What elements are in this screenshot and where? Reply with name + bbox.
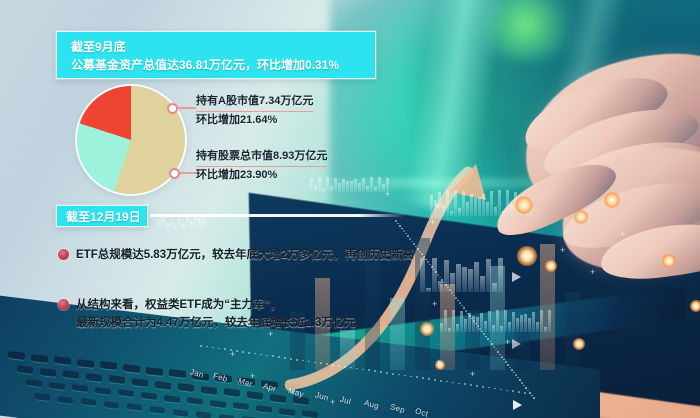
dotted-guide-point (493, 346, 495, 348)
dotted-guide-point-h (200, 345, 202, 347)
holographic-mini-bar (488, 311, 491, 332)
dotted-guide-point (483, 333, 485, 335)
callout-leader-a-shares (178, 107, 196, 109)
holographic-mini-bar (338, 183, 341, 192)
bullet-dot-icon (58, 249, 69, 260)
holographic-mini-bar (202, 218, 205, 231)
pie-chart-segments (77, 86, 185, 194)
dotted-guide-point-h (266, 355, 268, 357)
dotted-guide-point (469, 315, 471, 317)
dotted-guide-point-h (452, 382, 454, 384)
dotted-guide-point-h (326, 363, 328, 365)
holographic-mini-bar (346, 181, 349, 192)
light-spark (574, 210, 588, 224)
holographic-mini-bar (450, 273, 455, 292)
dotted-guide-point-h (476, 385, 478, 387)
holographic-mini-bar (464, 319, 467, 332)
dotted-guide-point (423, 256, 425, 258)
dotted-guide-point-h (440, 380, 442, 382)
holographic-histogram-top (430, 190, 560, 216)
holographic-mini-bar (506, 190, 509, 216)
holographic-mini-bar (442, 205, 445, 216)
holographic-mini-bar (460, 311, 463, 332)
dotted-guide-point (465, 310, 467, 312)
section-banner: 截至12月19日 (56, 205, 148, 227)
bullet-dot-icon-2 (58, 299, 69, 310)
dotted-guide-point (409, 238, 411, 240)
dotted-guide-point-h (230, 349, 232, 351)
dotted-guide-point (445, 284, 447, 286)
callout-total-stocks-title: 持有股票总市值8.93万亿元 (196, 148, 327, 167)
plus-marker-icon: + (620, 230, 625, 239)
holographic-mini-bar (484, 321, 487, 332)
holographic-mini-bar (482, 194, 485, 216)
cursor-arrow-icon (513, 400, 522, 410)
keyboard-key (31, 354, 48, 363)
keyboard-key (146, 367, 163, 376)
dotted-guide-point (495, 349, 497, 351)
dotted-guide-point-h (386, 372, 388, 374)
dotted-guide-point-h (470, 384, 472, 386)
infographic-canvas: Jan Feb Mar Apr May Jun Jul Aug Sep Oct … (0, 0, 700, 418)
holographic-mini-bar (444, 310, 447, 332)
holographic-mini-bar (458, 208, 461, 216)
light-spark (690, 300, 700, 312)
dotted-guide-point (463, 307, 465, 309)
holographic-mini-bar (492, 325, 495, 332)
light-spark (515, 196, 533, 214)
holographic-mini-bar (528, 318, 531, 332)
dotted-guide-point-h (464, 383, 466, 385)
keyboard-key (155, 381, 171, 390)
holographic-mini-bar (370, 177, 373, 192)
plus-marker-icon: + (432, 300, 437, 309)
dotted-guide-point-h (512, 390, 514, 392)
plus-marker-icon: + (330, 398, 335, 407)
dotted-guide-point-h (284, 357, 286, 359)
dotted-guide-point (441, 279, 443, 281)
holographic-mini-bar (330, 186, 333, 192)
holographic-mini-bar (498, 258, 503, 292)
dotted-guide-point (417, 248, 419, 250)
holographic-mini-bar (454, 190, 457, 216)
dotted-guide-point-h (320, 362, 322, 364)
holographic-mini-bar (446, 190, 449, 216)
header-banner: 截至9月底 公募基金资产总值达36.81万亿元，环比增加0.31% (56, 31, 376, 79)
dotted-guide-point-h (422, 377, 424, 379)
holographic-mini-bar (502, 211, 505, 216)
holographic-mini-bar (440, 323, 443, 332)
dotted-guide-point-h (344, 366, 346, 368)
holographic-mini-bar (310, 178, 313, 192)
plus-marker-icon: + (435, 202, 440, 211)
plus-marker-icon: + (230, 350, 235, 359)
holographic-mini-bar (494, 207, 497, 216)
dotted-guide-point (479, 328, 481, 330)
dotted-guide-point (505, 361, 507, 363)
holographic-mini-bar (182, 224, 185, 231)
dotted-guide-point-h (248, 352, 250, 354)
dotted-guide-point (427, 261, 429, 263)
dotted-guide-point-h (242, 351, 244, 353)
holographic-mini-bar (500, 326, 503, 332)
cursor-arrow-icon-3 (512, 339, 521, 349)
holographic-mini-bar (314, 185, 317, 192)
callout-node-total-stocks (169, 168, 180, 179)
holographic-mini-bar (190, 221, 193, 231)
dotted-guide-point-h (500, 389, 502, 391)
holographic-mini-bar (492, 283, 497, 292)
holographic-mini-bar (420, 258, 425, 292)
holographic-mini-bar (318, 177, 321, 192)
dotted-guide-point (477, 325, 479, 327)
holographic-mini-bar (448, 328, 451, 332)
holographic-mini-bar (342, 179, 345, 192)
bullet-etf-total-text: ETF总规模达5.83万亿元，较去年底大增2万多亿元，再创历史新高 (76, 246, 414, 264)
holographic-mini-bar (354, 179, 357, 192)
holographic-mini-bar (430, 195, 433, 216)
dotted-guide-point (509, 367, 511, 369)
dotted-guide-point-h (392, 373, 394, 375)
dotted-guide-point (395, 220, 397, 222)
dotted-guide-point-h (362, 369, 364, 371)
light-spark (604, 192, 620, 208)
holographic-mini-bar (358, 183, 361, 192)
holographic-bar (340, 330, 355, 370)
dotted-guide-point-h (272, 355, 274, 357)
dotted-guide-point (459, 302, 461, 304)
dotted-guide-point (411, 241, 413, 243)
holographic-mini-bar (504, 310, 507, 332)
light-spark (517, 246, 537, 266)
holographic-mini-bar (480, 276, 485, 292)
plus-marker-icon: + (290, 388, 295, 397)
dotted-guide-point-h (374, 370, 376, 372)
dotted-guide-point (425, 259, 427, 261)
holographic-mini-bar (462, 267, 467, 292)
keyboard-key (173, 409, 188, 417)
callout-a-shares-sub: 环比增加21.64% (196, 112, 277, 129)
dotted-guide-point (451, 292, 453, 294)
callout-leader-total-stocks (180, 172, 196, 174)
dotted-guide-point-h (296, 359, 298, 361)
callout-node-a-shares (167, 103, 178, 114)
holographic-mini-bar (158, 220, 161, 232)
holographic-mini-bar (490, 191, 493, 216)
dotted-guide-point (473, 320, 475, 322)
light-spark (662, 254, 676, 268)
holographic-mini-bar (362, 178, 365, 192)
dotted-guide-point (515, 374, 517, 376)
holographic-mini-bar (350, 181, 353, 192)
dotted-guide-point-h (410, 376, 412, 378)
holographic-mini-bar (536, 322, 539, 332)
dotted-guide-point (511, 369, 513, 371)
holographic-mini-bar (548, 310, 551, 332)
dotted-guide-point-h (428, 378, 430, 380)
dotted-guide-point (399, 225, 401, 227)
dotted-guide-point-h (218, 348, 220, 350)
bullet-equity-etf-line1: 从结构来看，权益类ETF成为“主力军”， (76, 296, 356, 314)
dotted-guide-point-h (290, 358, 292, 360)
holographic-mini-bar (334, 178, 337, 192)
dotted-guide-point-h (518, 391, 520, 393)
holographic-mini-bar (496, 310, 499, 332)
dotted-guide-point-h (332, 364, 334, 366)
holographic-mini-bar (166, 223, 169, 231)
dotted-guide-point (507, 364, 509, 366)
holographic-mini-bar (426, 288, 431, 292)
holographic-mini-bar (476, 317, 479, 332)
holographic-mini-bar (510, 205, 513, 216)
holographic-mini-bar (462, 191, 465, 216)
dotted-guide-point (521, 382, 523, 384)
dotted-guide-point (497, 351, 499, 353)
holographic-mini-bar (516, 318, 519, 332)
holographic-mini-bar (486, 259, 491, 292)
dotted-guide-point (439, 277, 441, 279)
keyboard-key (40, 368, 56, 377)
dotted-guide-point-h (338, 365, 340, 367)
holographic-mini-bar (450, 211, 453, 216)
dotted-guide-point (455, 297, 457, 299)
holographic-histogram-low (440, 310, 570, 332)
plus-marker-icon: + (430, 218, 435, 227)
holographic-mini-bar (470, 194, 473, 216)
holographic-mini-bar (474, 262, 479, 292)
dotted-guide-point-h (506, 390, 508, 392)
plus-marker-icon: + (385, 190, 390, 199)
dotted-guide-point (501, 356, 503, 358)
plus-marker-icon: + (470, 370, 475, 379)
holographic-mini-bar (486, 202, 489, 216)
holographic-mini-bar (498, 190, 501, 216)
dotted-guide-point-h (482, 386, 484, 388)
holographic-mini-bar (452, 310, 455, 332)
dotted-guide-point (435, 271, 437, 273)
dotted-guide-point (487, 338, 489, 340)
light-spark (545, 260, 557, 272)
holographic-mini-bar (378, 177, 381, 192)
pie-chart (77, 86, 185, 194)
holographic-mini-bar (456, 324, 459, 332)
dotted-guide-point (467, 313, 469, 315)
dotted-guide-point-h (434, 379, 436, 381)
plus-marker-icon: + (590, 268, 595, 277)
header-banner-line1: 截至9月底 (71, 38, 363, 56)
holographic-mini-bar (194, 215, 197, 231)
holographic-mini-bar (540, 310, 543, 332)
holographic-mini-bar (478, 197, 481, 216)
light-spark (573, 338, 585, 350)
plus-marker-icon: + (560, 246, 565, 255)
holographic-mini-bar (466, 202, 469, 216)
dotted-guide-point (449, 289, 451, 291)
holographic-mini-bar (474, 198, 477, 216)
holographic-mini-bar (508, 322, 511, 332)
holographic-mini-bar (468, 269, 473, 292)
holographic-mini-bar (532, 312, 535, 332)
dotted-guide-point-h (314, 362, 316, 364)
keyboard-key (270, 394, 286, 403)
holographic-mini-bar (326, 177, 329, 192)
holographic-mini-bar (520, 315, 523, 332)
dotted-guide-point-h (416, 376, 418, 378)
bullet-equity-etf-text: 从结构来看，权益类ETF成为“主力军”， 最新规模合计为4.47万亿元，较去年底… (76, 296, 356, 332)
dotted-guide-point-h (524, 392, 526, 394)
plus-marker-icon: + (436, 358, 441, 367)
dotted-guide-point (407, 235, 409, 237)
light-spark (420, 322, 434, 336)
holographic-mini-bar (544, 327, 547, 332)
dotted-guide-point-h (368, 369, 370, 371)
holographic-bar (390, 298, 405, 370)
dotted-guide-point (519, 379, 521, 381)
dotted-guide-point (481, 331, 483, 333)
dotted-guide-point-h (458, 383, 460, 385)
dotted-guide-point (421, 253, 423, 255)
dotted-guide-point (523, 385, 525, 387)
plus-marker-icon: + (505, 338, 510, 347)
dotted-guide-point-h (224, 348, 226, 350)
holographic-mini-bar (322, 188, 325, 192)
bullet-equity-etf-line2: 最新规模合计为4.47万亿元，较去年底增长近1.3万亿元 (76, 314, 356, 332)
callout-a-shares-title: 持有A股市值7.34万亿元 (196, 93, 313, 112)
holographic-mini-bar (198, 218, 201, 231)
holographic-mini-bar (374, 187, 377, 192)
holographic-mini-bar (366, 186, 369, 192)
dotted-guide-point-h (236, 350, 238, 352)
dotted-guide-point (529, 392, 531, 394)
section-divider (150, 214, 405, 217)
dotted-guide-point (397, 223, 399, 225)
dotted-guide-point (413, 243, 415, 245)
dotted-guide-point (431, 266, 433, 268)
callout-total-stocks-sub: 环比增加23.90% (196, 167, 277, 184)
holographic-mini-bar (512, 312, 515, 332)
holographic-mini-bar (456, 264, 461, 292)
keyboard-key (58, 396, 73, 404)
holographic-mini-bar (174, 226, 177, 231)
dotted-guide-point (437, 274, 439, 276)
dotted-guide-point-h (278, 356, 280, 358)
holographic-bar (365, 252, 380, 370)
dotted-guide-point (403, 230, 405, 232)
holographic-mini-bar (524, 314, 527, 332)
cursor-arrow-icon-2 (512, 272, 521, 282)
dotted-guide-point (533, 397, 535, 399)
plus-marker-icon: + (250, 372, 255, 381)
dotted-guide-point (453, 295, 455, 297)
header-banner-line2: 公募基金资产总值达36.81万亿元，环比增加0.31% (71, 56, 363, 74)
dotted-guide-point-h (380, 371, 382, 373)
dotted-guide-point (491, 343, 493, 345)
dotted-guide-point (525, 387, 527, 389)
keyboard-key (196, 411, 211, 418)
